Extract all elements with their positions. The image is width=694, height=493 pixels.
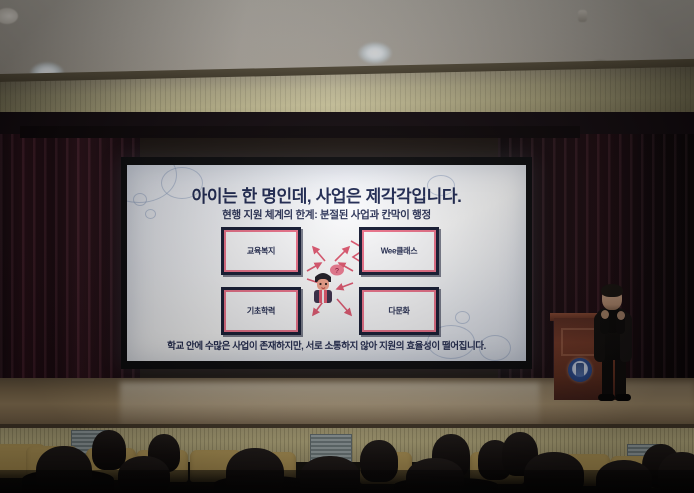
floor-reflection xyxy=(120,382,540,428)
school-emblem-mark xyxy=(576,363,584,377)
presenter-shoe xyxy=(598,394,615,401)
projected-slide: 아이는 한 명인데, 사업은 제각각입니다. 현행 지원 체계의 한계: 분절된… xyxy=(127,165,526,361)
stage-valance-inner xyxy=(20,126,580,138)
foreground-shadow xyxy=(0,470,694,493)
presenter-hair xyxy=(601,284,623,297)
ceiling-downlight xyxy=(358,42,392,64)
slide-vignette xyxy=(127,165,526,361)
presenter-hand xyxy=(617,311,625,320)
presenter-hand xyxy=(601,310,609,319)
stage-curtain-left xyxy=(0,118,140,383)
presenter-leg xyxy=(615,356,626,398)
curtain-folds xyxy=(0,118,140,383)
auditorium-photo: 아이는 한 명인데, 사업은 제각각입니다. 현행 지원 체계의 한계: 분절된… xyxy=(0,0,694,493)
presenter-shoe xyxy=(615,394,631,401)
presenter-leg xyxy=(602,356,613,398)
sprinkler-head-icon xyxy=(578,10,587,22)
